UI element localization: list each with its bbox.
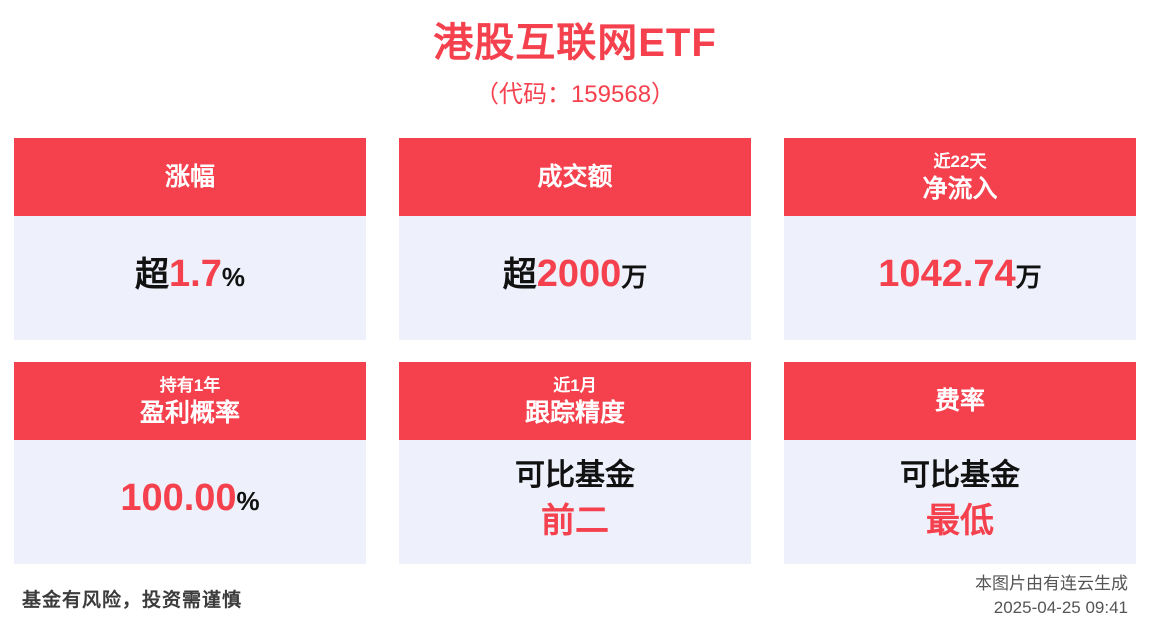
card-value-line-1: 可比基金 (515, 456, 635, 501)
metric-card-fee-rate: 费率 可比基金 最低 (784, 362, 1136, 564)
value-suffix: % (222, 262, 245, 292)
metric-card-grid: 涨幅 超1.7% 成交额 超2000万 近22天 净流入 (14, 138, 1136, 564)
card-header: 持有1年 盈利概率 (14, 362, 366, 440)
metric-card-turnover: 成交额 超2000万 (399, 138, 751, 340)
card-value-line: 超2000万 (503, 252, 648, 304)
value-number: 2000 (537, 253, 622, 295)
card-body: 100.00% (14, 440, 366, 564)
metric-card-tracking-accuracy: 近1月 跟踪精度 可比基金 前二 (399, 362, 751, 564)
value-suffix: 万 (621, 262, 647, 292)
card-subtitle: 近22天 (934, 151, 987, 173)
footer-source: 本图片由有连云生成 2025-04-25 09:41 (975, 572, 1128, 620)
card-value-line-2: 前二 (541, 501, 609, 548)
card-body: 超1.7% (14, 216, 366, 340)
card-title: 成交额 (537, 161, 612, 193)
metric-card-net-inflow: 近22天 净流入 1042.74万 (784, 138, 1136, 340)
card-body: 可比基金 最低 (784, 440, 1136, 564)
card-title: 涨幅 (165, 161, 215, 193)
card-body: 1042.74万 (784, 216, 1136, 340)
card-header: 成交额 (399, 138, 751, 216)
value-prefix: 超 (135, 256, 169, 294)
card-value-line: 超1.7% (135, 252, 245, 304)
page-title: 港股互联网ETF (0, 18, 1150, 68)
card-title: 费率 (935, 385, 985, 417)
timestamp: 2025-04-25 09:41 (975, 596, 1128, 620)
card-body: 可比基金 前二 (399, 440, 751, 564)
metric-card-change: 涨幅 超1.7% (14, 138, 366, 340)
fund-code: （代码：159568） (0, 80, 1150, 110)
card-header: 费率 (784, 362, 1136, 440)
value-suffix: 万 (1016, 262, 1042, 292)
header: 港股互联网ETF （代码：159568） (0, 0, 1150, 110)
risk-disclaimer: 基金有风险，投资需谨慎 (22, 585, 242, 612)
value-number: 1.7 (169, 253, 222, 295)
value-prefix: 可比基金 (515, 459, 635, 492)
source-text: 本图片由有连云生成 (975, 572, 1128, 596)
metric-card-profit-probability: 持有1年 盈利概率 100.00% (14, 362, 366, 564)
card-title: 净流入 (922, 173, 997, 205)
card-body: 超2000万 (399, 216, 751, 340)
card-value-line: 1042.74万 (878, 252, 1041, 304)
value-number: 1042.74 (878, 253, 1015, 295)
card-value-line-2: 最低 (926, 501, 994, 548)
card-subtitle: 近1月 (553, 375, 596, 397)
card-subtitle: 持有1年 (160, 375, 220, 397)
card-title: 盈利概率 (140, 397, 240, 429)
value-number: 最低 (926, 502, 994, 540)
card-header: 近22天 净流入 (784, 138, 1136, 216)
value-suffix: % (237, 486, 260, 516)
card-header: 近1月 跟踪精度 (399, 362, 751, 440)
card-title: 跟踪精度 (525, 397, 625, 429)
value-number: 前二 (541, 502, 609, 540)
value-number: 100.00 (120, 477, 236, 519)
card-header: 涨幅 (14, 138, 366, 216)
infographic-page: 港股互联网ETF （代码：159568） 涨幅 超1.7% 成交额 超2000万 (0, 0, 1150, 632)
value-prefix: 可比基金 (900, 459, 1020, 492)
card-value-line: 100.00% (120, 476, 259, 528)
value-prefix: 超 (503, 256, 537, 294)
card-value-line-1: 可比基金 (900, 456, 1020, 501)
